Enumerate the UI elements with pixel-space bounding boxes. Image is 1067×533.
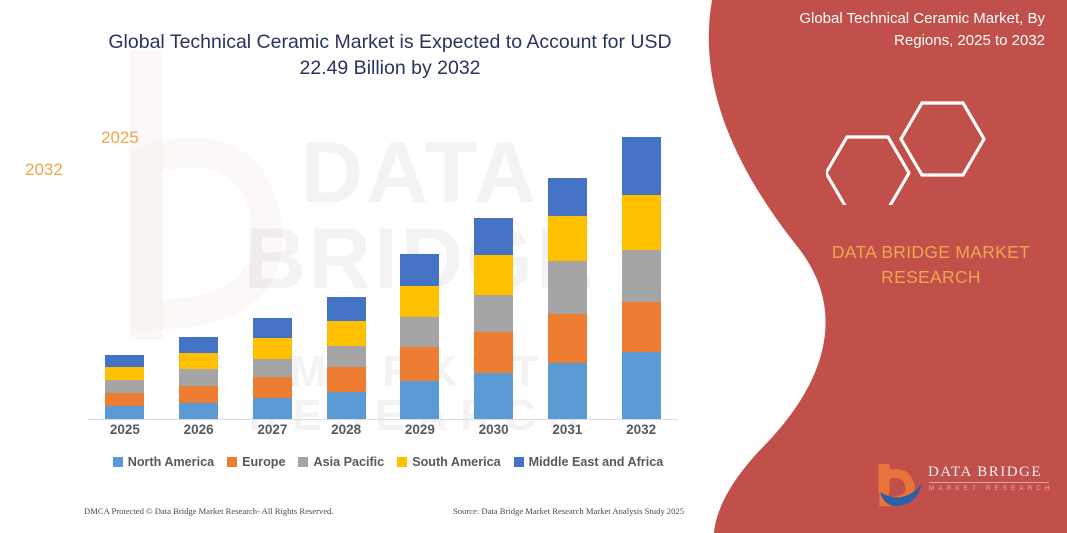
logo-text: DATA BRIDGE	[928, 464, 1042, 481]
logo-divider	[929, 482, 1049, 483]
brand-name: DATA BRIDGE MARKET RESEARCH	[800, 240, 1062, 291]
hexagon-label-2025: 2025	[101, 128, 139, 148]
hexagon-badges	[826, 95, 1006, 205]
hexagon-2032	[826, 137, 909, 205]
logo-tagline: MARKET RESEARCH	[929, 485, 1054, 492]
panel-heading: Global Technical Ceramic Market, By Regi…	[745, 8, 1045, 52]
company-logo: DATA BRIDGE MARKET RESEARCH	[876, 462, 1056, 508]
infographic-canvas: DATA BRIDGE MARKET RESEARCH Global Techn…	[0, 0, 1067, 533]
logo-mark-icon	[876, 462, 928, 508]
hexagon-label-2032: 2032	[25, 160, 63, 180]
hexagon-2025	[901, 103, 984, 175]
